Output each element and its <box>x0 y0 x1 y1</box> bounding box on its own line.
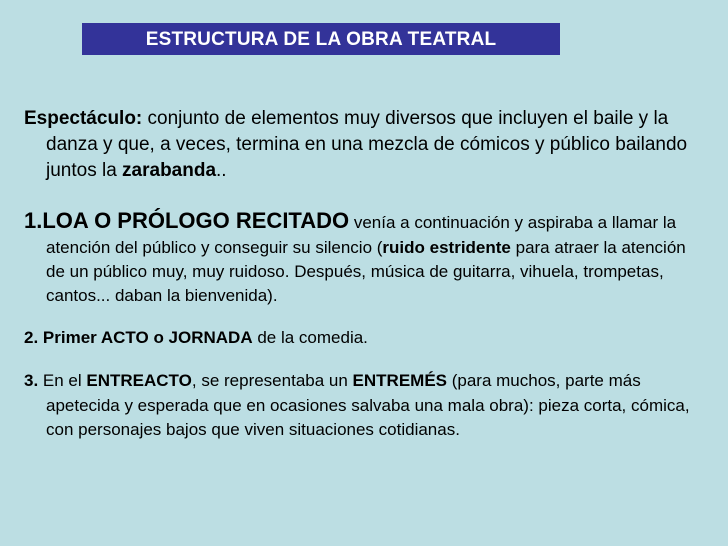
paragraph-item-1: 1.LOA O PRÓLOGO RECITADO venía a continu… <box>24 205 708 309</box>
slide-title-banner: ESTRUCTURA DE LA OBRA TEATRAL <box>82 23 560 55</box>
paragraph-item-3-number: 3. <box>24 371 43 390</box>
paragraph-item-2-bold-term: Primer ACTO o JORNADA <box>43 328 253 347</box>
paragraph-item-3-bold-term-2: ENTREMÉS <box>353 371 447 390</box>
paragraph-item-3-bold-term-1: ENTREACTO <box>86 371 191 390</box>
slide-body: Espectáculo: conjunto de elementos muy d… <box>24 106 708 443</box>
paragraph-item-1-lead: 1.LOA O PRÓLOGO RECITADO <box>24 208 349 233</box>
paragraph-item-1-bold-term: ruido estridente <box>382 238 510 257</box>
paragraph-item-3-text-1: En el <box>43 371 86 390</box>
paragraph-item-2-number: 2. <box>24 328 43 347</box>
slide-title-text: ESTRUCTURA DE LA OBRA TEATRAL <box>146 30 497 49</box>
paragraph-item-2-text: de la comedia. <box>253 328 368 347</box>
paragraph-espectaculo: Espectáculo: conjunto de elementos muy d… <box>24 106 708 185</box>
paragraph-item-3: 3. En el ENTREACTO, se representaba un E… <box>24 369 708 443</box>
paragraph-item-2: 2. Primer ACTO o JORNADA de la comedia. <box>24 326 708 351</box>
paragraph-espectaculo-text-after: .. <box>216 160 227 181</box>
paragraph-espectaculo-lead: Espectáculo: <box>24 108 142 129</box>
paragraph-item-3-text-2: , se representaba un <box>192 371 353 390</box>
slide-canvas: ESTRUCTURA DE LA OBRA TEATRAL Espectácul… <box>0 0 728 546</box>
paragraph-espectaculo-bold-term: zarabanda <box>122 160 216 181</box>
